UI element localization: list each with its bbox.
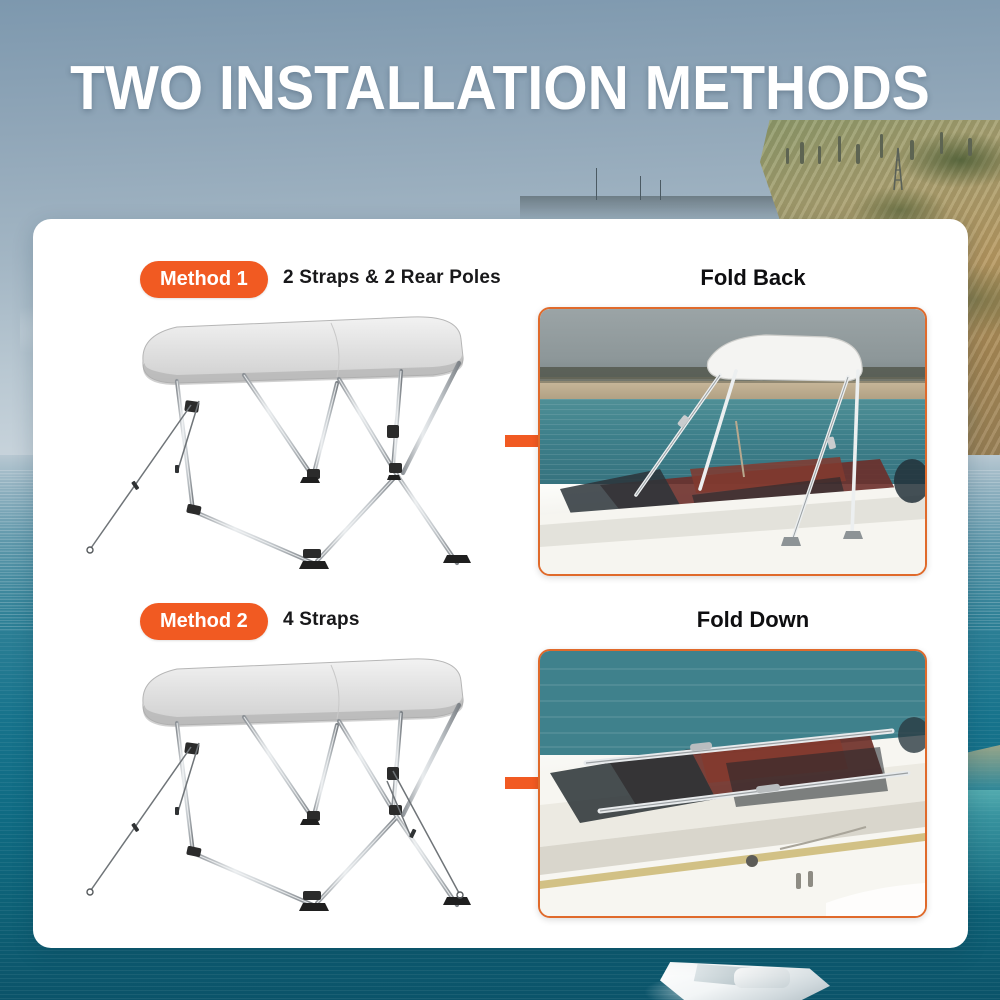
photo-overlay [540,309,925,574]
photo-fold-back [538,307,927,576]
method-block-2: Method 2 4 Straps Fold Down [33,585,968,935]
mast-icon [596,168,597,200]
method-1-badge: Method 1 [140,261,268,298]
infographic-canvas: TWO INSTALLATION METHODS Method 1 2 Stra… [0,0,1000,1000]
method-1-header: Method 1 2 Straps & 2 Rear Poles Fold Ba… [33,243,968,295]
page-title: TWO INSTALLATION METHODS [40,58,960,120]
mast-icon [660,180,661,200]
antenna-tower-icon [880,140,920,192]
fold-back-title: Fold Back [553,265,953,291]
photo-overlay [540,651,925,916]
method-1-subtitle: 2 Straps & 2 Rear Poles [283,265,501,291]
background-yacht [660,948,850,1000]
method-2-header: Method 2 4 Straps Fold Down [33,585,968,637]
fold-down-title: Fold Down [553,607,953,633]
photo-fold-down [538,649,927,918]
yacht-canopy [734,968,790,988]
mast-icon [640,176,641,200]
bimini-diagram-method-1 [81,305,501,570]
method-2-badge: Method 2 [140,603,268,640]
method-2-subtitle: 4 Straps [283,607,360,633]
method-block-1: Method 1 2 Straps & 2 Rear Poles Fold Ba… [33,243,968,593]
content-card: Method 1 2 Straps & 2 Rear Poles Fold Ba… [33,219,968,948]
bimini-diagram-method-2 [81,647,501,912]
